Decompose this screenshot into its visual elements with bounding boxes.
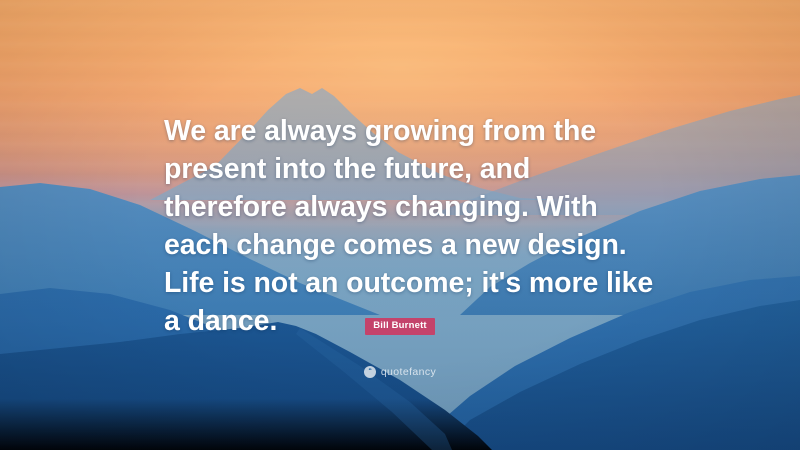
quote-mark-icon: “ <box>364 366 376 378</box>
author-container: Bill Burnett <box>0 315 800 335</box>
quotefancy-watermark: “ quotefancy <box>0 366 800 378</box>
watermark-brand-label: quotefancy <box>381 366 436 378</box>
quote-card: We are always growing from the present i… <box>0 0 800 450</box>
author-badge: Bill Burnett <box>365 318 435 335</box>
card-content: We are always growing from the present i… <box>0 0 800 450</box>
quote-text: We are always growing from the present i… <box>164 112 654 340</box>
